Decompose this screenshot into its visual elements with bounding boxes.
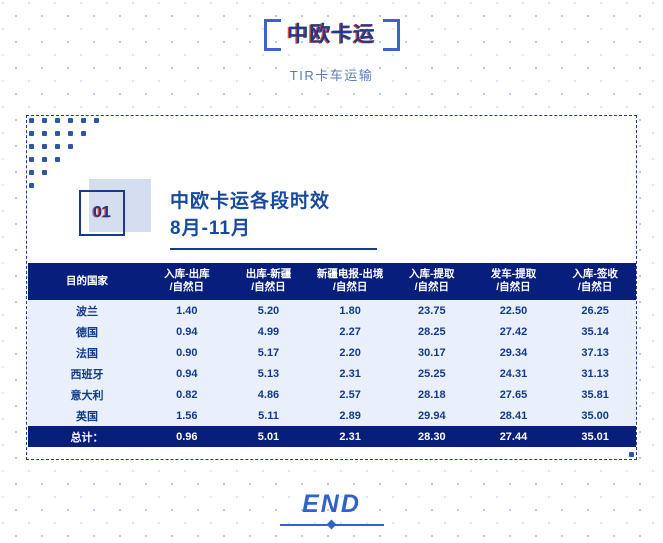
cell-country: 意大利 (28, 384, 146, 405)
table-column-header: 发车-提取/自然日 (473, 263, 555, 300)
cell-value: 28.30 (391, 426, 473, 447)
cell-value: 4.86 (228, 384, 310, 405)
section-title-line2: 8月-11月 (170, 215, 330, 242)
column-header-line1: 发车-提取 (473, 268, 555, 281)
cell-country: 德国 (28, 321, 146, 342)
cell-value: 0.90 (146, 342, 228, 363)
table-row: 波兰1.405.201.8023.7522.5026.25 (28, 300, 636, 321)
cell-value: 28.18 (391, 384, 473, 405)
cell-value: 29.34 (473, 342, 555, 363)
cell-value: 27.44 (473, 426, 555, 447)
decorative-dot (42, 144, 47, 149)
column-header-line2: /自然日 (146, 281, 228, 294)
table-row: 法国0.905.172.2030.1729.3437.13 (28, 342, 636, 363)
cell-value: 0.82 (146, 384, 228, 405)
column-header-line1: 入库-出库 (146, 268, 228, 281)
brand-subtitle: TIR卡车运输 (284, 64, 379, 85)
cell-value: 25.25 (391, 363, 473, 384)
table-row: 英国1.565.112.8929.9428.4135.00 (28, 405, 636, 426)
cell-value: 0.96 (146, 426, 228, 447)
content-card: 01 中欧卡运各段时效 8月-11月 目的国家入库-出库/自然日出库-新疆/自然… (26, 115, 637, 460)
column-header-line2: /自然日 (391, 281, 473, 294)
column-header-line1: 入库-签收 (554, 268, 636, 281)
decorative-dot (68, 144, 73, 149)
decorative-dot (55, 144, 60, 149)
table-column-header: 入库-提取/自然日 (391, 263, 473, 300)
decorative-dot (55, 157, 60, 162)
decorative-dot (29, 183, 34, 188)
cell-value: 2.31 (309, 426, 391, 447)
table-column-header: 入库-签收/自然日 (554, 263, 636, 300)
table-column-header: 入库-出库/自然日 (146, 263, 228, 300)
decorative-dot (68, 118, 73, 123)
cell-value: 22.50 (473, 300, 555, 321)
section-badge: 01 (79, 190, 125, 236)
table-body: 波兰1.405.201.8023.7522.5026.25德国0.944.992… (28, 300, 636, 447)
decorative-dot (29, 170, 34, 175)
table-head: 目的国家入库-出库/自然日出库-新疆/自然日新疆电报-出境/自然日入库-提取/自… (28, 263, 636, 300)
column-header-line1: 出库-新疆 (228, 268, 310, 281)
decorative-dot (94, 118, 99, 123)
cell-value: 30.17 (391, 342, 473, 363)
decorative-dot (42, 131, 47, 136)
end-diamond-icon (326, 520, 336, 530)
table-row: 德国0.944.992.2728.2527.4235.14 (28, 321, 636, 342)
table-row: 意大利0.824.862.5728.1827.6535.81 (28, 384, 636, 405)
column-header-line1: 新疆电报-出境 (309, 268, 391, 281)
cell-value: 29.94 (391, 405, 473, 426)
decorative-dot (55, 118, 60, 123)
decorative-dot (42, 157, 47, 162)
section-title-line1: 中欧卡运各段时效 (170, 188, 330, 215)
cell-value: 31.13 (554, 363, 636, 384)
cell-value: 5.13 (228, 363, 310, 384)
cell-value: 5.20 (228, 300, 310, 321)
decorative-dot (55, 131, 60, 136)
cell-value: 2.27 (309, 321, 391, 342)
column-header-line1: 目的国家 (28, 275, 146, 288)
decorative-dot (42, 118, 47, 123)
cell-value: 1.40 (146, 300, 228, 321)
cell-value: 28.25 (391, 321, 473, 342)
column-header-line2: /自然日 (228, 281, 310, 294)
cell-value: 35.14 (554, 321, 636, 342)
cell-value: 5.17 (228, 342, 310, 363)
cell-value: 26.25 (554, 300, 636, 321)
cell-value: 24.31 (473, 363, 555, 384)
end-rule (280, 521, 384, 529)
cell-value: 23.75 (391, 300, 473, 321)
cell-country: 总计： (28, 426, 146, 447)
table-column-header: 出库-新疆/自然日 (228, 263, 310, 300)
section-underline (170, 248, 377, 250)
bracket-bottom-right-icon (383, 22, 400, 51)
column-header-line2: /自然日 (309, 281, 391, 294)
decorative-dot (629, 452, 634, 457)
table-row: 西班牙0.945.132.3125.2524.3131.13 (28, 363, 636, 384)
table-column-header: 目的国家 (28, 263, 146, 300)
cell-value: 35.81 (554, 384, 636, 405)
section-badge-number: 01 (93, 204, 111, 222)
decorative-dot (29, 144, 34, 149)
cell-value: 2.57 (309, 384, 391, 405)
page-footer: END (0, 490, 663, 529)
cell-value: 27.42 (473, 321, 555, 342)
column-header-line2: /自然日 (554, 281, 636, 294)
column-header-line2: /自然日 (473, 281, 555, 294)
cell-value: 1.56 (146, 405, 228, 426)
cell-country: 法国 (28, 342, 146, 363)
cell-country: 英国 (28, 405, 146, 426)
decorative-dot (42, 170, 47, 175)
section-heading: 中欧卡运各段时效 8月-11月 (170, 188, 330, 242)
column-header-line1: 入库-提取 (391, 268, 473, 281)
cell-value: 35.00 (554, 405, 636, 426)
decorative-dot (29, 157, 34, 162)
cell-value: 28.41 (473, 405, 555, 426)
cell-country: 西班牙 (28, 363, 146, 384)
cell-value: 2.31 (309, 363, 391, 384)
end-label: END (0, 490, 663, 518)
decorative-dot (68, 131, 73, 136)
cell-value: 2.20 (309, 342, 391, 363)
cell-country: 波兰 (28, 300, 146, 321)
cell-value: 27.65 (473, 384, 555, 405)
table-column-header: 新疆电报-出境/自然日 (309, 263, 391, 300)
transit-time-table: 目的国家入库-出库/自然日出库-新疆/自然日新疆电报-出境/自然日入库-提取/自… (28, 263, 636, 447)
brand-title: 中欧卡运 (288, 22, 376, 48)
cell-value: 5.11 (228, 405, 310, 426)
decorative-dot (81, 131, 86, 136)
page-header: 中欧卡运 TIR卡车运输 (0, 0, 663, 85)
decorative-dot (29, 131, 34, 136)
cell-value: 4.99 (228, 321, 310, 342)
cell-value: 0.94 (146, 363, 228, 384)
table-header-row: 目的国家入库-出库/自然日出库-新疆/自然日新疆电报-出境/自然日入库-提取/自… (28, 263, 636, 300)
brand-logo: 中欧卡运 (258, 18, 406, 52)
cell-value: 1.80 (309, 300, 391, 321)
table-total-row: 总计：0.965.012.3128.3027.4435.01 (28, 426, 636, 447)
cell-value: 0.94 (146, 321, 228, 342)
bracket-bottom-left-icon (264, 22, 281, 51)
cell-value: 37.13 (554, 342, 636, 363)
cell-value: 2.89 (309, 405, 391, 426)
decorative-dot (29, 118, 34, 123)
cell-value: 5.01 (228, 426, 310, 447)
decorative-dot (81, 118, 86, 123)
cell-value: 35.01 (554, 426, 636, 447)
